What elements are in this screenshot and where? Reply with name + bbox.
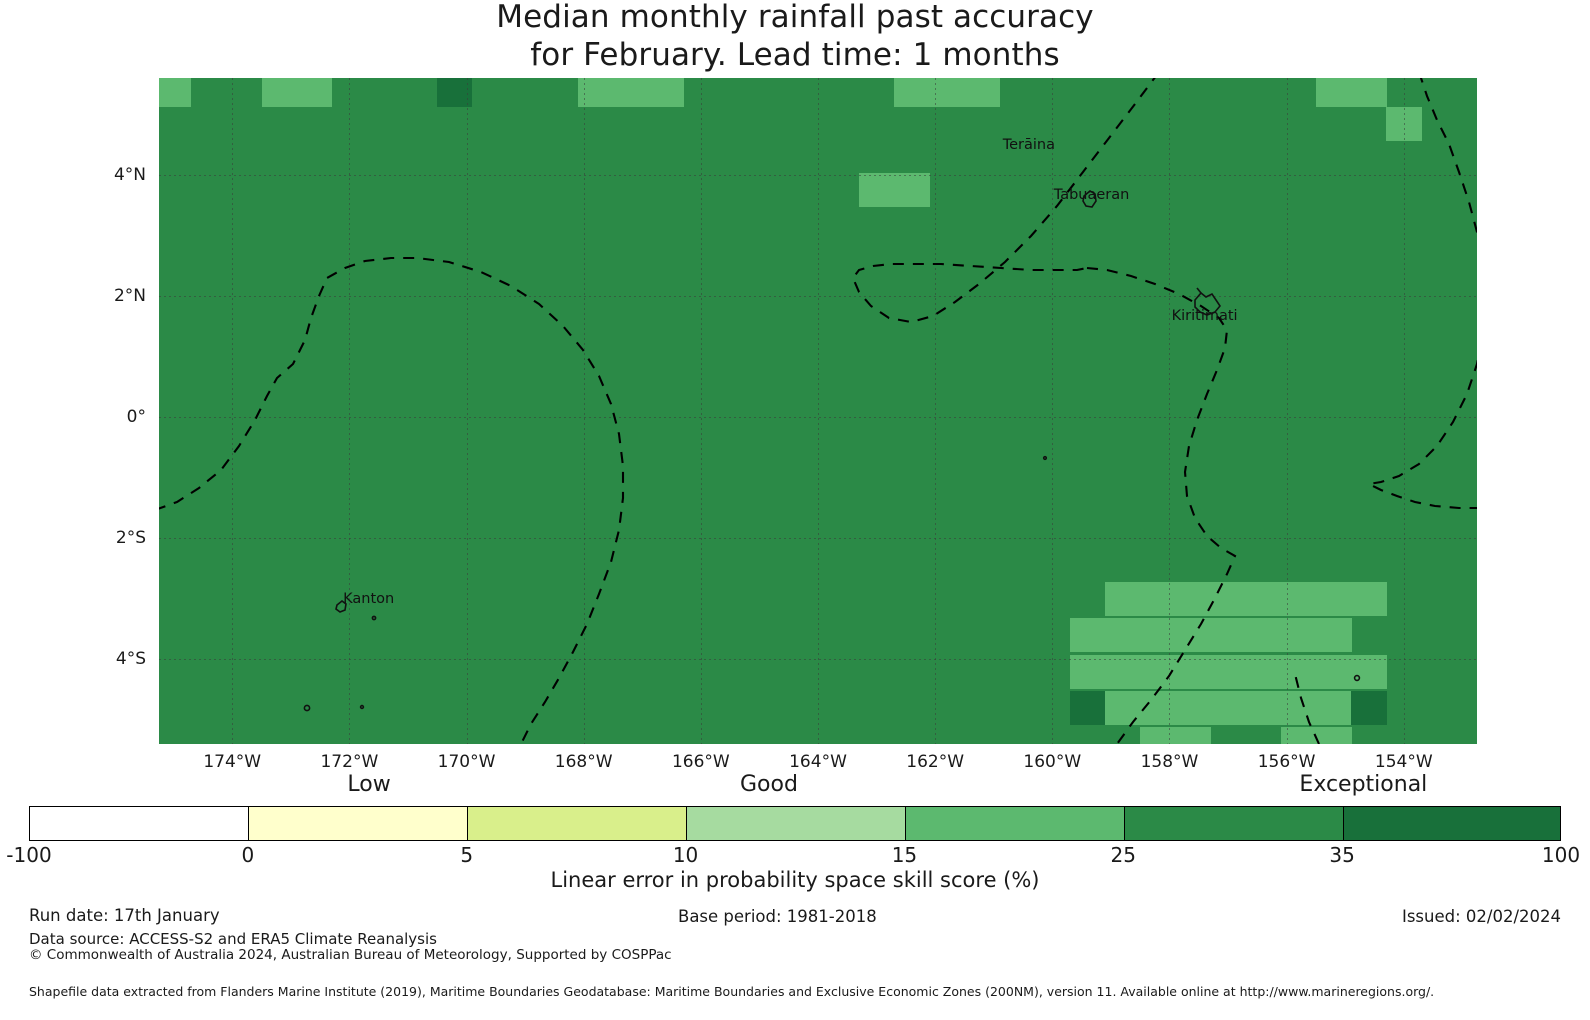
xtick-label: 164°W: [789, 752, 847, 772]
colorbar-tick-label: 0: [241, 843, 254, 867]
colorbar-tick-label: 25: [1111, 843, 1136, 867]
ytick-label: 2°S: [116, 528, 146, 548]
ytick-label: 0°: [127, 407, 146, 427]
colorbar-tick-label: 100: [1542, 843, 1580, 867]
colorbar-segment[interactable]: [1343, 807, 1560, 840]
colorbar-tick-label: -100: [6, 843, 51, 867]
title-line-1: Median monthly rainfall past accuracy: [496, 0, 1093, 35]
xtick-label: 168°W: [555, 752, 613, 772]
ytick-label: 4°N: [114, 165, 146, 185]
base-period-text: Base period: 1981-2018: [678, 907, 877, 926]
colorbar-tick-label: 15: [892, 843, 917, 867]
colorbar-tick-label: 5: [460, 843, 473, 867]
xtick-label: 158°W: [1141, 752, 1199, 772]
xtick-label: 170°W: [438, 752, 496, 772]
xtick-label: 166°W: [672, 752, 730, 772]
shapefile-credit-text: Shapefile data extracted from Flanders M…: [29, 984, 1434, 999]
colorbar-segment[interactable]: [1124, 807, 1343, 840]
colorbar-category-low: Low: [347, 772, 390, 797]
xtick-label: 160°W: [1023, 752, 1081, 772]
colorbar-segment[interactable]: [905, 807, 1124, 840]
map-plot-area[interactable]: TerāinaTabuaeranKiritimatiKanton: [159, 78, 1477, 744]
page-title: Median monthly rainfall past accuracy fo…: [0, 0, 1590, 74]
island-label-tabuaeran: Tabuaeran: [1054, 187, 1130, 203]
colorbar-tick-label: 10: [673, 843, 698, 867]
island-outlines: [159, 78, 1477, 744]
xtick-label: 174°W: [203, 752, 261, 772]
data-source-text: Data source: ACCESS-S2 and ERA5 Climate …: [29, 930, 437, 948]
copyright-text: © Commonwealth of Australia 2024, Austra…: [29, 947, 672, 963]
skill-score-colorbar[interactable]: [29, 806, 1561, 841]
colorbar-tick-label: 35: [1329, 843, 1354, 867]
xtick-label: 162°W: [906, 752, 964, 772]
xtick-label: 156°W: [1258, 752, 1316, 772]
ytick-label: 4°S: [116, 649, 146, 669]
colorbar-segment[interactable]: [30, 807, 248, 840]
island-label-kanton: Kanton: [343, 591, 394, 607]
colorbar-category-good: Good: [740, 772, 798, 797]
issued-date-text: Issued: 02/02/2024: [1402, 907, 1561, 926]
xtick-label: 154°W: [1375, 752, 1433, 772]
ytick-label: 2°N: [114, 286, 146, 306]
island-label-terina: Terāina: [1003, 137, 1055, 153]
colorbar-segment[interactable]: [248, 807, 467, 840]
figure-canvas: Median monthly rainfall past accuracy fo…: [0, 0, 1590, 1020]
colorbar-category-exceptional: Exceptional: [1299, 772, 1427, 797]
island-label-kiritimati: Kiritimati: [1172, 308, 1238, 324]
xtick-label: 172°W: [320, 752, 378, 772]
colorbar-segment[interactable]: [467, 807, 686, 840]
run-date-text: Run date: 17th January: [29, 906, 220, 925]
colorbar-segment[interactable]: [686, 807, 905, 840]
colorbar-axis-label: Linear error in probability space skill …: [0, 868, 1590, 892]
title-line-2: for February. Lead time: 1 months: [0, 36, 1590, 74]
